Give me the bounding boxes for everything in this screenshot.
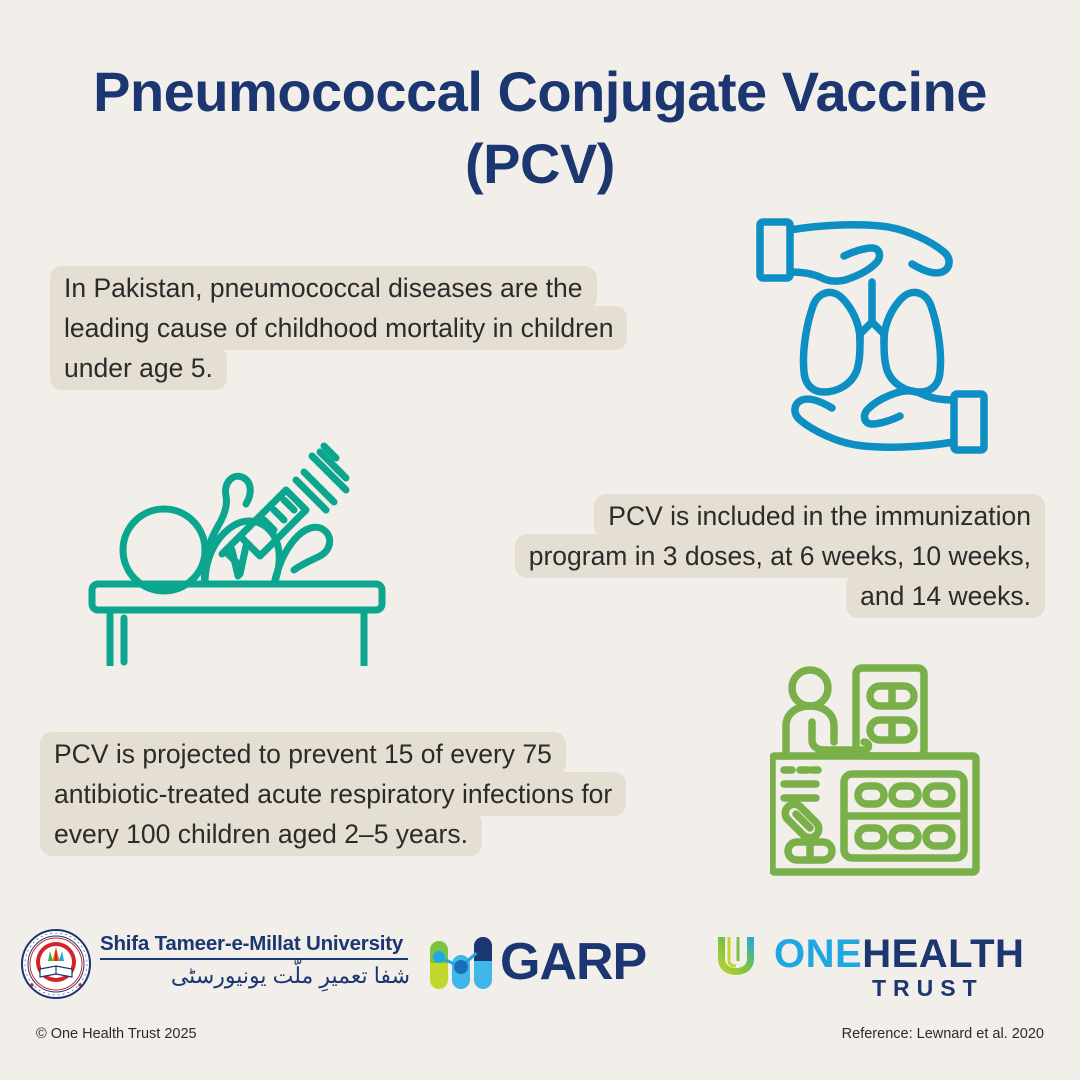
- pharmacy-counter-icon: [770, 664, 1006, 892]
- oht-wordmark: ONEHEALTH: [774, 931, 1024, 977]
- oht-word-health: HEALTH: [862, 932, 1024, 976]
- copyright-text: © One Health Trust 2025: [36, 1026, 197, 1042]
- garp-bars-icon: [428, 933, 494, 991]
- lungs-in-hands-icon: [756, 212, 988, 460]
- shifa-name-ur: شفا تعمیرِ ملّت یونیورسٹی: [100, 961, 410, 991]
- oht-word-trust: TRUST: [872, 975, 984, 1002]
- callout-burden: In Pakistan, pneumococcal diseases are t…: [50, 266, 730, 390]
- shifa-name-en: Shifa Tameer-e-Millat University: [100, 932, 410, 956]
- callout-line: every 100 children aged 2–5 years.: [40, 812, 482, 856]
- oht-word-one: ONE: [774, 932, 862, 976]
- callout-line: and 14 weeks.: [846, 574, 1045, 618]
- callout-line: program in 3 doses, at 6 weeks, 10 weeks…: [515, 534, 1045, 578]
- infant-vaccination-icon: [88, 394, 390, 666]
- footer-bar: © One Health Trust 2025 Reference: Lewna…: [0, 1026, 1080, 1052]
- callout-schedule: PCV is included in the immunization prog…: [430, 494, 1045, 618]
- one-health-trust-logo: ONEHEALTH TRUST: [712, 931, 1042, 1003]
- partner-logos: Shifa Tameer-e-Millat University شفا تعم…: [0, 925, 1080, 1010]
- callout-line: PCV is included in the immunization: [594, 494, 1045, 538]
- shifa-university-logo: Shifa Tameer-e-Millat University شفا تعم…: [20, 927, 410, 1005]
- infographic-page: Pneumococcal Conjugate Vaccine (PCV) In …: [0, 0, 1080, 1080]
- garp-wordmark: GARP: [500, 931, 646, 993]
- callout-line: PCV is projected to prevent 15 of every …: [40, 732, 566, 776]
- page-title-line-2: (PCV): [0, 128, 1080, 200]
- shifa-divider: [100, 958, 408, 960]
- callout-line: leading cause of childhood mortality in …: [50, 306, 627, 350]
- shifa-wordmark: Shifa Tameer-e-Millat University شفا تعم…: [100, 932, 410, 991]
- page-title-line-1: Pneumococcal Conjugate Vaccine: [0, 56, 1080, 128]
- oht-leaf-icon: [712, 931, 766, 979]
- callout-impact: PCV is projected to prevent 15 of every …: [40, 732, 740, 856]
- callout-line: under age 5.: [50, 346, 227, 390]
- garp-logo: GARP: [428, 933, 670, 995]
- callout-line: antibiotic-treated acute respiratory inf…: [40, 772, 626, 816]
- page-title: Pneumococcal Conjugate Vaccine (PCV): [0, 56, 1080, 200]
- reference-text: Reference: Lewnard et al. 2020: [842, 1026, 1044, 1042]
- callout-line: In Pakistan, pneumococcal diseases are t…: [50, 266, 597, 310]
- shifa-seal-icon: [20, 927, 92, 1001]
